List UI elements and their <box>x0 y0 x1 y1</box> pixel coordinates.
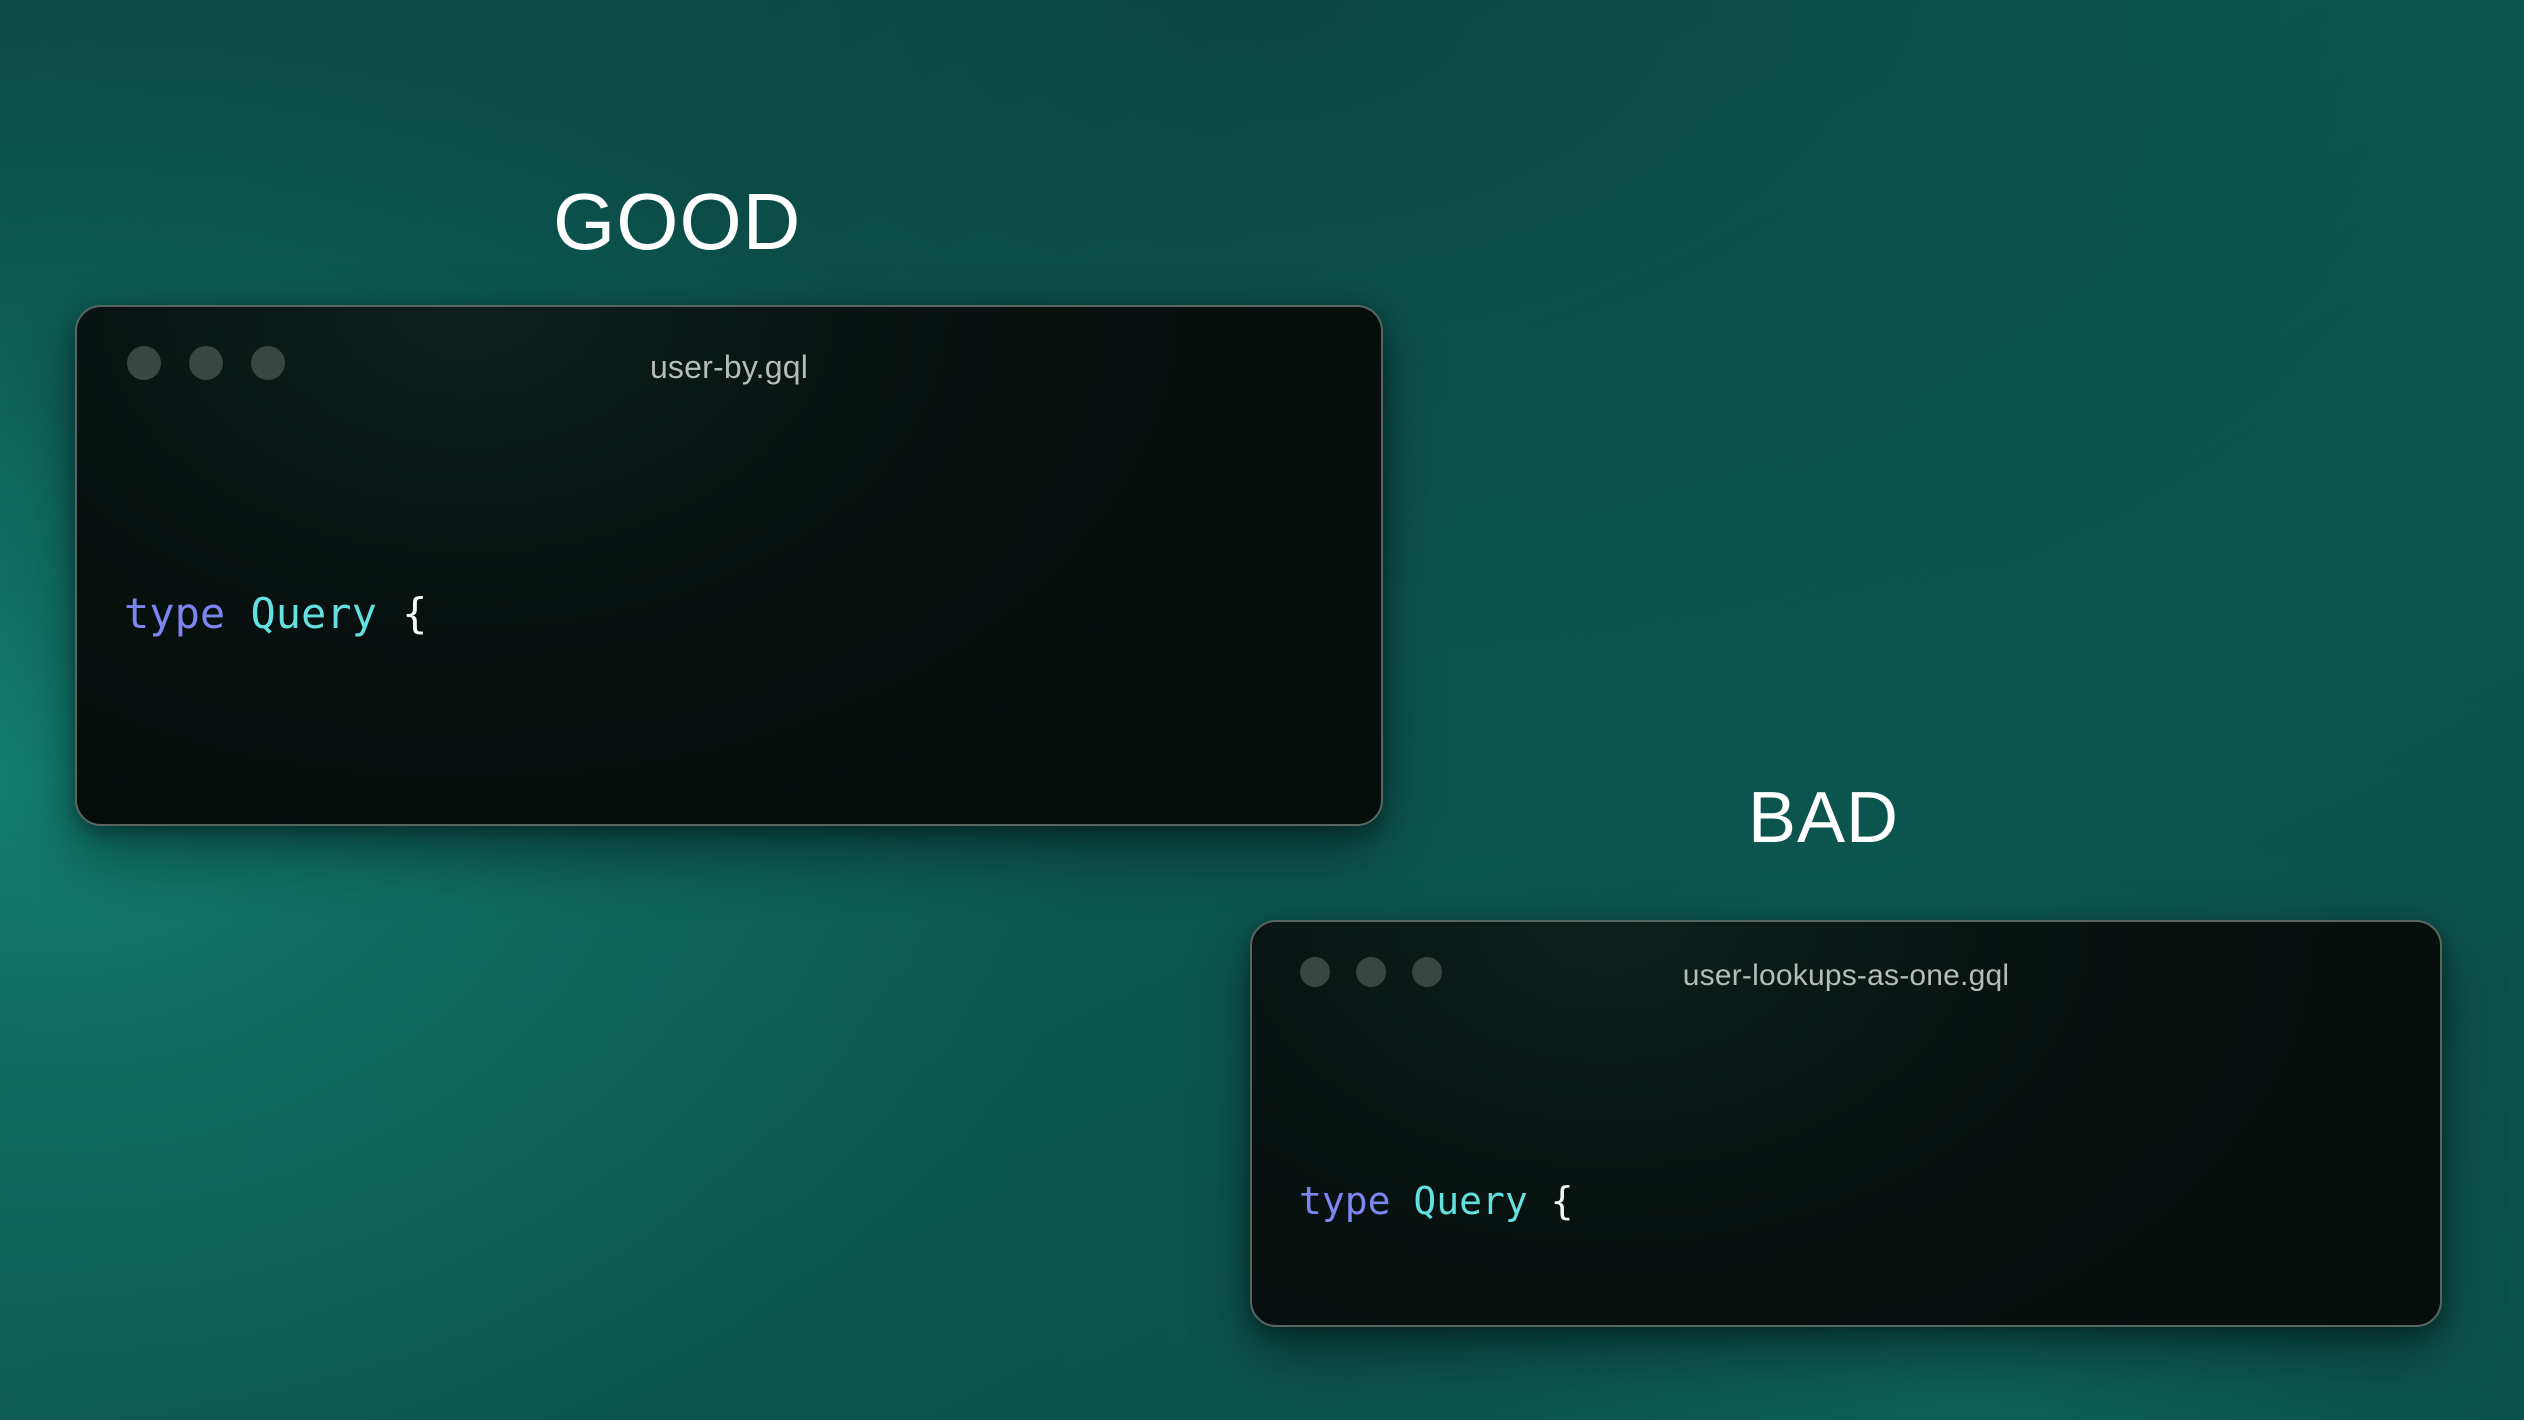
verdict-label-bad: BAD <box>1748 782 1899 854</box>
traffic-light-dots <box>1300 957 1442 987</box>
minimize-dot-icon[interactable] <box>189 346 223 380</box>
window-titlebar: user-lookups-as-one.gql <box>1252 922 2440 1022</box>
maximize-dot-icon[interactable] <box>1412 957 1442 987</box>
minimize-dot-icon[interactable] <box>1356 957 1386 987</box>
code-block-good: type Query { userById(id: ID!): User use… <box>77 419 1381 826</box>
code-token-plain: { <box>1528 1179 1574 1223</box>
maximize-dot-icon[interactable] <box>251 346 285 380</box>
code-window-bad: user-lookups-as-one.gql type Query { use… <box>1250 920 2442 1327</box>
code-line: type Query { <box>124 577 1381 651</box>
code-token-keyword: type <box>124 589 225 638</box>
verdict-label-good: GOOD <box>553 182 801 262</box>
close-dot-icon[interactable] <box>127 346 161 380</box>
code-token-plain <box>225 589 250 638</box>
code-token-type: Query <box>1413 1179 1527 1223</box>
code-block-bad: type Query { user(id: ID, ssn: String): … <box>1252 1022 2440 1327</box>
code-token-plain: { <box>377 589 428 638</box>
window-titlebar: user-by.gql <box>77 307 1381 419</box>
code-token-keyword: type <box>1299 1179 1391 1223</box>
code-line: type Query { <box>1299 1166 2440 1236</box>
code-token-type: Query <box>250 589 376 638</box>
traffic-light-dots <box>127 346 285 380</box>
close-dot-icon[interactable] <box>1300 957 1330 987</box>
code-window-good: user-by.gql type Query { userById(id: ID… <box>75 305 1383 826</box>
code-token-plain <box>1391 1179 1414 1223</box>
